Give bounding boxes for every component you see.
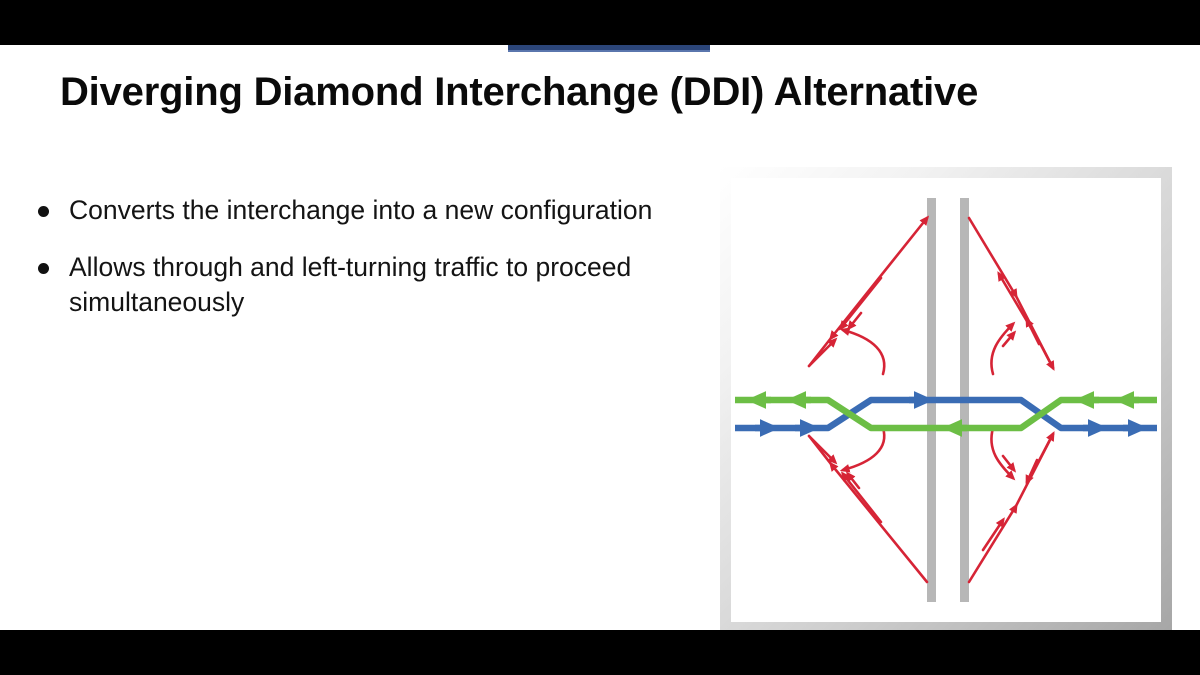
bullet-text: Allows through and left-turning traffic … xyxy=(69,250,698,320)
bullet-list: Converts the interchange into a new conf… xyxy=(38,193,698,343)
bullet-text: Converts the interchange into a new conf… xyxy=(69,193,698,228)
diverging-diamond-interchange-schematic xyxy=(731,178,1161,622)
slide-stage: Diverging Diamond Interchange (DDI) Alte… xyxy=(0,0,1200,675)
list-item: Allows through and left-turning traffic … xyxy=(38,250,698,320)
ramp-northwest xyxy=(809,218,927,374)
bullet-dot-icon xyxy=(38,206,49,217)
slide-canvas: Diverging Diamond Interchange (DDI) Alte… xyxy=(0,45,1200,630)
ramp-southeast xyxy=(969,428,1053,582)
ramp-southwest xyxy=(809,428,927,582)
ramp-northeast xyxy=(969,218,1053,374)
bullet-dot-icon xyxy=(38,263,49,274)
page-title: Diverging Diamond Interchange (DDI) Alte… xyxy=(60,70,1170,114)
letterbox-bottom xyxy=(0,630,1200,675)
arterial-westbound-flow xyxy=(735,400,1157,428)
list-item: Converts the interchange into a new conf… xyxy=(38,193,698,228)
diagram-frame xyxy=(720,167,1172,633)
arterial-eastbound-flow xyxy=(735,400,1157,428)
letterbox-top xyxy=(0,0,1200,45)
